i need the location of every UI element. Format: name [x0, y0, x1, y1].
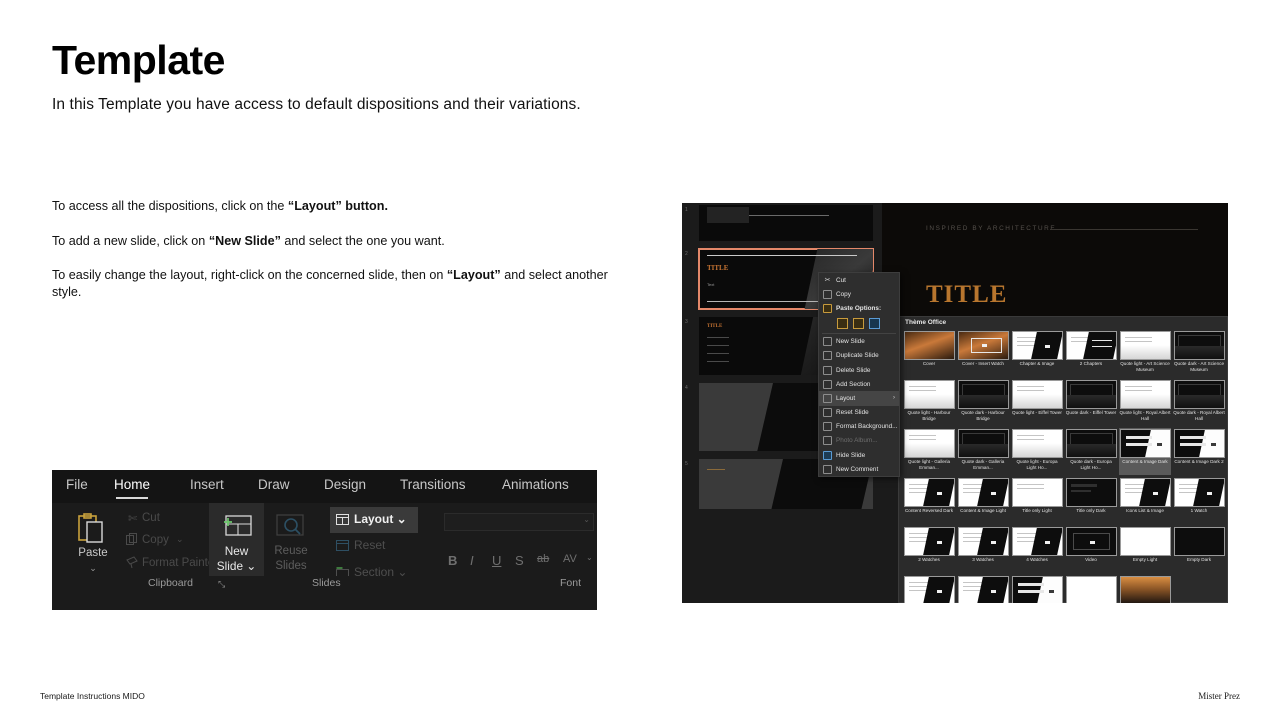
layout-option-title-only-light[interactable]: Title only Light	[1011, 477, 1063, 524]
italic-button[interactable]: I	[470, 553, 474, 568]
layout-option-quote-dark-europa-light-ho[interactable]: Quote dark - Europa Light Ho...	[1065, 428, 1117, 475]
context-menu-item-label: Format Background...	[836, 423, 897, 430]
layout-option-1-watch[interactable]: 1 Watch	[1173, 477, 1225, 524]
context-menu-item-label: Cut	[836, 277, 846, 284]
context-menu-item-label: Paste Options:	[836, 305, 881, 312]
layout-thumbnail	[1066, 331, 1117, 360]
reuse-slides-icon	[276, 513, 306, 539]
layout-thumbnail	[1066, 478, 1117, 507]
layout-option-label: Video	[1065, 557, 1117, 563]
layout-thumbnail	[1066, 429, 1117, 458]
layout-option-label: Quote light - Harbour Bridge	[903, 410, 955, 421]
new-slide-icon	[221, 512, 253, 538]
layout-option-cover-insert-watch[interactable]: Cover - Insert Watch	[957, 330, 1009, 377]
layout-thumbnail	[1174, 429, 1225, 458]
group-label-slides: Slides	[312, 577, 341, 589]
layout-thumbnail	[904, 429, 955, 458]
layout-option-label: Quote dark - Harbour Bridge	[957, 410, 1009, 421]
font-name-input[interactable]: ⌄	[444, 513, 594, 531]
reset-icon	[336, 540, 349, 551]
layout-option-quote-light-europa-light-ho[interactable]: Quote light - Europa Light Ho...	[1011, 428, 1063, 475]
format-background-icon	[823, 422, 832, 431]
layout-thumbnail	[1012, 429, 1063, 458]
layout-option-label: 1 Watch	[1173, 508, 1225, 514]
chevron-down-icon[interactable]: ⌄	[583, 515, 590, 524]
text-shadow-button[interactable]: S	[515, 553, 524, 568]
layout-icon	[336, 514, 349, 525]
layout-option-content-image-dark[interactable]: Content & Image Dark	[1119, 428, 1171, 475]
layout-thumbnail	[904, 576, 955, 603]
new-comment-icon	[823, 465, 832, 474]
layout-option-label: Cover	[903, 361, 955, 367]
underline-button[interactable]: U	[492, 553, 501, 568]
context-menu-item-copy[interactable]: Copy	[819, 287, 899, 301]
layout-thumbnail	[958, 478, 1009, 507]
copy-icon	[823, 290, 832, 299]
footer-left-text: Template Instructions MIDO	[40, 691, 145, 701]
tab-design[interactable]: Design	[324, 477, 366, 492]
paste-keep-formatting-icon[interactable]	[837, 318, 848, 329]
layout-option-label: Icons List & Image	[1119, 508, 1171, 514]
thumbnail-title: TITLE	[707, 324, 722, 329]
layout-option-label: 2 Watches	[903, 557, 955, 563]
context-menu-item-label: Layout	[836, 395, 855, 402]
thumbnail-number: 1	[685, 207, 688, 213]
reset-slide-icon	[823, 408, 832, 417]
layout-option-video[interactable]: Video	[1065, 526, 1117, 573]
layout-option-content-image-light[interactable]: Content & Image Light	[957, 477, 1009, 524]
layout-option-label: Quote light - Eiffel Tower	[1011, 410, 1063, 416]
layout-thumbnail	[904, 478, 955, 507]
duplicate-slide-icon	[823, 351, 832, 360]
layout-thumbnail	[1012, 527, 1063, 556]
delete-slide-icon	[823, 366, 832, 375]
paste-label: Paste	[66, 547, 120, 559]
layout-button-label: Layout ⌄	[354, 512, 407, 526]
reuse-slides-label-line2: Slides	[268, 560, 314, 572]
layout-thumbnail	[958, 527, 1009, 556]
layout-thumbnail	[1012, 478, 1063, 507]
instruction-text-post: button.	[342, 199, 388, 213]
tab-draw[interactable]: Draw	[258, 477, 290, 492]
layout-option-label: Content & Image Dark	[1119, 459, 1171, 465]
layout-thumbnail	[1120, 429, 1171, 458]
layout-option-quote-light-galleria-emman[interactable]: Quote light - Galleria Emman...	[903, 428, 955, 475]
layout-button[interactable]: Layout ⌄	[330, 507, 418, 533]
layout-option-quote-dark-royal-albert-hall[interactable]: Quote dark - Royal Albert Hall	[1173, 379, 1225, 426]
character-spacing-button[interactable]: AV	[563, 553, 577, 565]
layout-option-title-only-dark[interactable]: Title only Dark	[1065, 477, 1117, 524]
instruction-text-post: and select the one you want.	[281, 234, 445, 248]
copy-icon	[126, 533, 139, 546]
context-menu-item-label: Delete Slide	[836, 367, 870, 374]
context-menu-item-add-section[interactable]: Add Section	[819, 377, 899, 391]
strikethrough-button[interactable]: ab	[537, 553, 549, 565]
layout-thumbnail	[958, 380, 1009, 409]
layout-thumbnail	[1174, 527, 1225, 556]
slide-thumbnail[interactable]	[699, 205, 873, 241]
context-menu-item-label: Hide Slide	[836, 452, 865, 459]
context-menu-item-label: Add Section	[836, 381, 870, 388]
instructions-list: To access all the dispositions, click on…	[52, 198, 612, 318]
context-menu-item-layout[interactable]: Layout›	[819, 391, 899, 405]
bold-button[interactable]: B	[448, 553, 457, 568]
layout-option-label: Quote light - Galleria Emman...	[903, 459, 955, 470]
group-label-font: Font	[560, 577, 581, 589]
layout-option-4-watches[interactable]: 4 Watches	[1011, 526, 1063, 573]
layout-option-label: Quote dark - Art Science Museum	[1173, 361, 1225, 372]
layout-option-label: Quote dark - Royal Albert Hall	[1173, 410, 1225, 421]
slide-main-title: TITLE	[926, 281, 1007, 309]
layout-option-label: Title only Dark	[1065, 508, 1117, 514]
instruction-item: To access all the dispositions, click on…	[52, 198, 612, 215]
tab-transitions[interactable]: Transitions	[400, 477, 466, 492]
hide-slide-icon	[823, 451, 832, 460]
scissors-icon: ✄	[128, 512, 137, 525]
layout-option-quote-dark-galleria-emman[interactable]: Quote dark - Galleria Emman...	[957, 428, 1009, 475]
reset-button[interactable]: Reset	[354, 538, 385, 552]
gallery-header-label: Thème Office	[905, 319, 946, 326]
layout-thumbnail	[1174, 478, 1225, 507]
context-menu-item-reset-slide[interactable]: Reset Slide	[819, 406, 899, 420]
ribbon-group-labels: Clipboard ⤡ Slides Font	[52, 576, 597, 593]
paste-icon	[823, 304, 832, 313]
layout-thumbnail	[904, 527, 955, 556]
slide-rule-divider	[1050, 229, 1198, 230]
layout-option-3-watches[interactable]: 3 Watches	[957, 526, 1009, 573]
context-menu-item-label: New Slide	[836, 338, 865, 345]
layout-option-label: Quote light - Art Science Museum	[1119, 361, 1171, 372]
new-slide-icon	[823, 337, 832, 346]
layout-option-quote-dark-art-science-museum[interactable]: Quote dark - Art Science Museum	[1173, 330, 1225, 377]
layout-option-label: Quote dark - Europa Light Ho...	[1065, 459, 1117, 470]
layout-thumbnail	[1012, 331, 1063, 360]
clipboard-icon	[78, 513, 104, 543]
context-menu-item-new-comment[interactable]: New Comment	[819, 462, 899, 476]
slide-context-menu: ✂CutCopyPaste Options:New SlideDuplicate…	[818, 272, 900, 477]
character-spacing-chevron-icon[interactable]: ⌄	[586, 553, 593, 562]
layout-thumbnail	[1012, 576, 1063, 603]
tab-home[interactable]: Home	[114, 477, 150, 492]
layout-option-quote-light-royal-albert-hall[interactable]: Quote light - Royal Albert Hall	[1119, 379, 1171, 426]
instruction-text-bold: “New Slide”	[209, 234, 281, 248]
context-menu-separator	[822, 333, 896, 334]
context-menu-item-hide-slide[interactable]: Hide Slide	[819, 448, 899, 462]
layout-option-75-25-light[interactable]: 75/25 Light	[957, 575, 1009, 603]
format-painter-icon	[126, 556, 140, 569]
instruction-text-bold: “Layout”	[447, 268, 501, 282]
layout-option-label: 3 Watches	[957, 557, 1009, 563]
thumbnail-number: 3	[685, 319, 688, 325]
layout-option-quote-light-eiffel-tower[interactable]: Quote light - Eiffel Tower	[1011, 379, 1063, 426]
context-menu-item-label: Copy	[836, 291, 851, 298]
context-menu-item-delete-slide[interactable]: Delete Slide	[819, 363, 899, 377]
instruction-text-bold: “Layout”	[288, 199, 342, 213]
layout-option-quote-dark-eiffel-tower[interactable]: Quote dark - Eiffel Tower	[1065, 379, 1117, 426]
group-label-clipboard: Clipboard	[148, 577, 193, 589]
layout-option-label: Content & Image Light	[957, 508, 1009, 514]
context-menu-item-label: Duplicate Slide	[836, 352, 879, 359]
thumbnail-text: Text	[707, 282, 714, 287]
layout-option-chapter-image[interactable]: Chapter & Image	[1011, 330, 1063, 377]
layout-thumbnail	[1120, 527, 1171, 556]
submenu-arrow-icon: ›	[893, 395, 895, 401]
layout-option-label: Cover - Insert Watch	[957, 361, 1009, 367]
layout-option-2-chapters[interactable]: 2 Chapters	[1065, 330, 1117, 377]
layout-thumbnail	[904, 331, 955, 360]
layout-option-quote-dark-harbour-bridge[interactable]: Quote dark - Harbour Bridge	[957, 379, 1009, 426]
new-slide-label-line1: New	[209, 544, 264, 558]
context-menu-item-paste-options[interactable]: Paste Options:	[819, 301, 899, 315]
ribbon-tab-bar: File Home Insert Draw Design Transitions…	[52, 470, 597, 503]
instruction-text-pre: To access all the dispositions, click on…	[52, 199, 288, 213]
paste-keep-source-icon[interactable]	[869, 318, 880, 329]
instruction-item: To add a new slide, click on “New Slide”…	[52, 233, 612, 250]
layout-option-label: Quote light - Royal Albert Hall	[1119, 410, 1171, 421]
layout-option-content-reversed-dark[interactable]: Content Reversed Dark	[903, 477, 955, 524]
clipboard-dialog-launcher[interactable]: ⤡	[218, 579, 225, 590]
thumbnail-number: 4	[685, 385, 688, 391]
layout-thumbnail	[1174, 331, 1225, 360]
ribbon-body: Paste ⌄ ✄ Cut Copy ⌄ Format Painter New …	[52, 503, 597, 593]
layout-thumbnail	[1174, 380, 1225, 409]
paste-picture-icon[interactable]	[853, 318, 864, 329]
footer-right-text: Mister Prez	[1198, 691, 1240, 701]
paste-button[interactable]: Paste ⌄	[66, 509, 120, 585]
context-menu-item-photo-album: Photo Album...	[819, 434, 899, 448]
layout-thumbnail	[1012, 380, 1063, 409]
slide-eyebrow-text: INSPIRED BY ARCHITECTURE	[926, 225, 1056, 232]
add-section-icon	[823, 380, 832, 389]
layout-option-content-image-dark-2[interactable]: Content & Image Dark 2	[1173, 428, 1225, 475]
format-painter-button[interactable]: Format Painter	[142, 557, 218, 569]
copy-button[interactable]: Copy	[142, 534, 169, 546]
layout-option-quote-light-harbour-bridge[interactable]: Quote light - Harbour Bridge	[903, 379, 955, 426]
tab-insert[interactable]: Insert	[190, 477, 224, 492]
instruction-text-pre: To add a new slide, click on	[52, 234, 209, 248]
layout-option-icons-list-image[interactable]: Icons List & Image	[1119, 477, 1171, 524]
scissors-icon: ✂	[823, 276, 832, 285]
layout-icon	[823, 394, 832, 403]
page-title: Template	[52, 40, 225, 81]
thumbnail-number: 5	[685, 461, 688, 467]
context-menu-item-format-background[interactable]: Format Background...	[819, 420, 899, 434]
layout-thumbnail	[1066, 527, 1117, 556]
layout-option-quote-light-art-science-museum[interactable]: Quote light - Art Science Museum	[1119, 330, 1171, 377]
layout-option-empty-dark[interactable]: Empty Dark	[1173, 526, 1225, 573]
instruction-text-pre: To easily change the layout, right-click…	[52, 268, 447, 282]
layout-thumbnail	[1120, 331, 1171, 360]
layout-thumbnail	[958, 429, 1009, 458]
context-menu-item-duplicate-slide[interactable]: Duplicate Slide	[819, 349, 899, 363]
tab-file[interactable]: File	[66, 477, 88, 492]
layout-option-label: 4 Watches	[1011, 557, 1063, 563]
layout-thumbnail	[1066, 576, 1117, 603]
layout-thumbnail	[1066, 380, 1117, 409]
paste-options-icons	[819, 316, 899, 332]
layout-option-50-50[interactable]: 50/50	[903, 575, 955, 603]
new-slide-label-line2: Slide ⌄	[209, 559, 264, 573]
layout-option-label: Quote dark - Galleria Emman...	[957, 459, 1009, 470]
layout-thumbnail	[958, 331, 1009, 360]
layout-option-label: Chapter & Image	[1011, 361, 1063, 367]
page-subtitle: In this Template you have access to defa…	[52, 96, 581, 114]
photo-album-icon	[823, 436, 832, 445]
context-menu-item-new-slide[interactable]: New Slide	[819, 335, 899, 349]
layout-option-2-watches[interactable]: 2 Watches	[903, 526, 955, 573]
powerpoint-window-screenshot: 1 2 TITLE Text 3 TITLE 4 TITLE 5	[682, 203, 1228, 603]
instruction-item: To easily change the layout, right-click…	[52, 267, 612, 300]
context-menu-item-label: New Comment	[836, 466, 878, 473]
layout-option-label: 2 Chapters	[1065, 361, 1117, 367]
thumbnail-title: TITLE	[707, 264, 728, 272]
layout-option-label: Content Reversed Dark	[903, 508, 955, 514]
layout-option-empty[interactable]: Empty	[1065, 575, 1117, 603]
cut-button[interactable]: Cut	[142, 512, 160, 524]
layout-gallery-flyout: Thème Office CoverCover - Insert WatchCh…	[898, 316, 1228, 603]
layout-thumbnail	[958, 576, 1009, 603]
tab-animations[interactable]: Animations	[502, 477, 569, 492]
powerpoint-ribbon-screenshot: File Home Insert Draw Design Transitions…	[52, 470, 597, 610]
layout-option-75-25-dark[interactable]: 75/25 Dark	[1011, 575, 1063, 603]
context-menu-item-label: Reset Slide	[836, 409, 869, 416]
layout-option-label: Content & Image Dark 2	[1173, 459, 1225, 465]
copy-chevron-icon[interactable]: ⌄	[176, 534, 184, 545]
layout-thumbnail	[1120, 576, 1171, 603]
layout-thumbnail	[1120, 380, 1171, 409]
layout-option-label: Quote dark - Eiffel Tower	[1065, 410, 1117, 416]
layout-gallery-grid: CoverCover - Insert WatchChapter & Image…	[903, 330, 1223, 598]
context-menu-item-cut[interactable]: ✂Cut	[819, 273, 899, 287]
layout-option-label: Title only Light	[1011, 508, 1063, 514]
reuse-slides-label-line1: Reuse	[268, 545, 314, 557]
context-menu-item-label: Photo Album...	[836, 437, 878, 444]
layout-thumbnail	[904, 380, 955, 409]
layout-option-label: Empty Dark	[1173, 557, 1225, 563]
layout-option-cover[interactable]: Cover	[903, 330, 955, 377]
thumbnail-number: 2	[685, 251, 688, 257]
layout-option-label: Quote light - Europa Light Ho...	[1011, 459, 1063, 470]
layout-thumbnail	[1120, 478, 1171, 507]
chevron-down-icon[interactable]: ⌄	[66, 563, 120, 574]
layout-option-end[interactable]: End	[1119, 575, 1171, 603]
layout-option-empty-light[interactable]: Empty Light	[1119, 526, 1171, 573]
layout-option-label: Empty Light	[1119, 557, 1171, 563]
